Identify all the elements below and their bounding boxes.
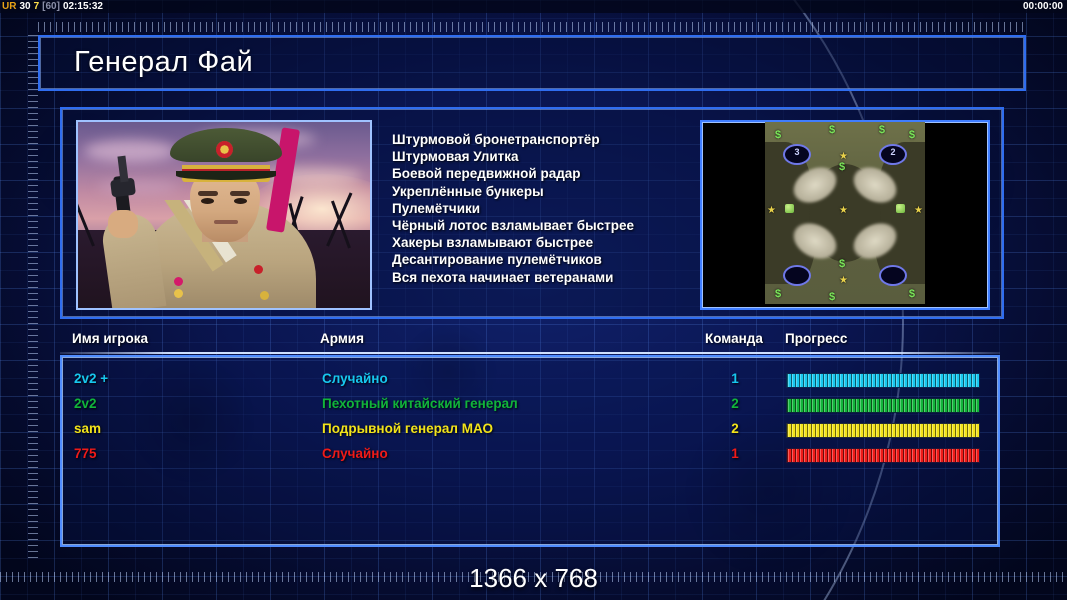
map-start-position: 2 (879, 144, 907, 165)
map-oil-icon: ★ (839, 276, 848, 286)
hud-bar: UR307[60]02:15:32 00:00:00 (0, 0, 1067, 13)
table-row[interactable]: 775 Случайно 1 (62, 443, 998, 468)
ability-item: Штурмовой бронетранспортёр (392, 131, 692, 148)
portrait-cap-brim (176, 171, 276, 180)
player-name: sam (74, 421, 101, 436)
player-progress-bar (786, 373, 980, 388)
map-crate (896, 204, 905, 213)
map-oil-icon: ★ (839, 152, 848, 162)
player-army: Подрывной генерал МАО (322, 421, 493, 436)
map-supply-icon: $ (775, 130, 781, 141)
map-image: 3 2 $ $ $ $ $ $ $ $ $ ★ ★ ★ ★ (765, 122, 925, 304)
hud-value1: 30 (19, 1, 30, 12)
ruler-top (38, 22, 1026, 32)
hud-right-clock: 00:00:00 (1023, 0, 1063, 13)
map-start-position (879, 265, 907, 286)
ability-item: Десантирование пулемётчиков (392, 251, 692, 268)
portrait-cloud (84, 140, 176, 162)
ability-item: Хакеры взламывают быстрее (392, 234, 692, 251)
hud-bracket: [60] (42, 1, 60, 12)
map-oil-icon: ★ (839, 206, 848, 216)
ruler-left (28, 35, 38, 559)
lobby-frame: Генерал Фай (38, 35, 1026, 559)
portrait-brow (198, 191, 218, 196)
player-progress-bar (786, 423, 980, 438)
ability-item: Пулемётчики (392, 200, 692, 217)
player-army: Пехотный китайский генерал (322, 396, 518, 411)
ability-item: Укреплённые бункеры (392, 183, 692, 200)
table-row[interactable]: sam Подрывной генерал МАО 2 (62, 418, 998, 443)
map-oil-icon: ★ (767, 206, 776, 216)
resolution-label: 1366 x 768 (0, 563, 1067, 594)
player-army: Случайно (322, 446, 388, 461)
map-supply-icon: $ (879, 125, 885, 136)
player-name: 775 (74, 446, 97, 461)
portrait-medal (174, 277, 183, 286)
portrait-eye (201, 198, 214, 204)
map-supply-icon: $ (839, 162, 845, 173)
map-supply-icon: $ (829, 292, 835, 303)
table-header-row: Имя игрока Армия Команда Прогресс (60, 331, 1000, 353)
ability-item: Чёрный лотос взламывает быстрее (392, 217, 692, 234)
map-supply-icon: $ (829, 125, 835, 136)
player-progress-bar (786, 398, 980, 413)
player-army: Случайно (322, 371, 388, 386)
player-team: 1 (707, 446, 763, 461)
map-oil-icon: ★ (914, 206, 923, 216)
player-team: 2 (707, 396, 763, 411)
portrait-mouth (214, 220, 238, 224)
table-header-divider (60, 352, 1000, 354)
ability-item: Штурмовая Улитка (392, 148, 692, 165)
map-supply-icon: $ (909, 289, 915, 300)
hud-left: UR307[60]02:15:32 (2, 0, 106, 13)
portrait-brow (230, 191, 250, 196)
game-lobby-screen: UR307[60]02:15:32 00:00:00 Генерал Фай (0, 0, 1067, 600)
map-start-position: 3 (783, 144, 811, 165)
player-team: 2 (707, 421, 763, 436)
hud-label: UR (2, 1, 16, 12)
map-supply-icon: $ (839, 259, 845, 270)
general-info-panel: Штурмовой бронетранспортёр Штурмовая Ули… (60, 107, 1004, 319)
portrait-medal (174, 289, 183, 298)
portrait-medal (254, 265, 263, 274)
general-abilities-list: Штурмовой бронетранспортёр Штурмовая Ули… (392, 131, 692, 286)
map-supply-icon: $ (909, 130, 915, 141)
general-portrait (76, 120, 372, 310)
player-team: 1 (707, 371, 763, 386)
ability-item: Боевой передвижной радар (392, 165, 692, 182)
player-progress-bar (786, 448, 980, 463)
portrait-medal (260, 291, 269, 300)
map-supply-icon: $ (775, 289, 781, 300)
hud-value2: 7 (34, 1, 40, 12)
ability-item: Вся пехота начинает ветеранами (392, 269, 692, 286)
title-panel: Генерал Фай (38, 35, 1026, 91)
map-preview[interactable]: 3 2 $ $ $ $ $ $ $ $ $ ★ ★ ★ ★ (700, 120, 990, 310)
portrait-eye (234, 198, 247, 204)
player-list[interactable]: 2v2 + Случайно 1 2v2 Пехотный китайский … (60, 355, 1000, 547)
column-header-progress: Прогресс (785, 331, 847, 346)
map-start-position (783, 265, 811, 286)
player-name: 2v2 + (74, 371, 108, 386)
player-table: Имя игрока Армия Команда Прогресс 2v2 + … (60, 331, 1000, 547)
column-header-army: Армия (320, 331, 364, 346)
column-header-name: Имя игрока (72, 331, 148, 346)
portrait-hand (108, 210, 138, 238)
page-title: Генерал Фай (74, 46, 253, 79)
map-crate (785, 204, 794, 213)
table-row[interactable]: 2v2 + Случайно 1 (62, 368, 998, 393)
table-row[interactable]: 2v2 Пехотный китайский генерал 2 (62, 393, 998, 418)
column-header-team: Команда (705, 331, 763, 346)
portrait-cap-badge (216, 141, 233, 158)
hud-clock: 02:15:32 (63, 1, 103, 12)
player-name: 2v2 (74, 396, 97, 411)
